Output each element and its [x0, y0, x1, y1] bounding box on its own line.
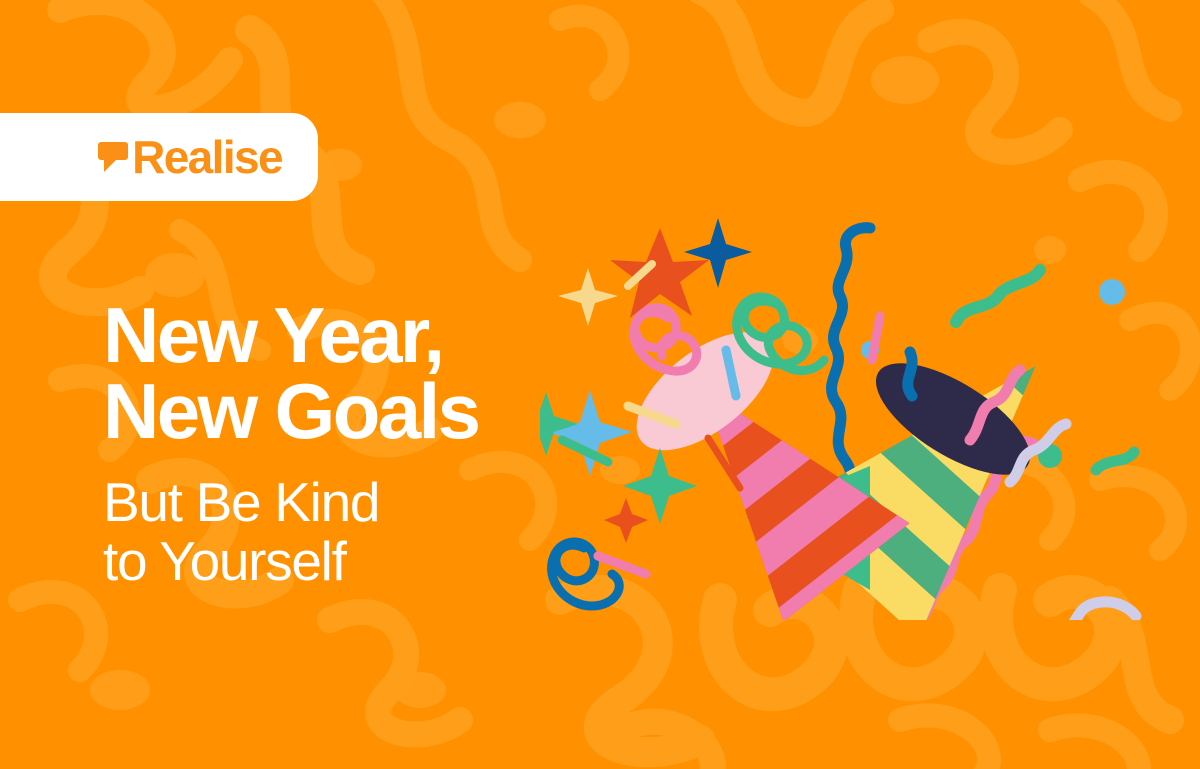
confetti-star-cream — [558, 268, 618, 326]
streamer-green-wave — [956, 270, 1040, 322]
promo-banner: Realise New Year, New Goals But Be Kind … — [0, 0, 1200, 769]
streamer-navy-mouth — [908, 352, 912, 396]
party-poppers-illustration — [540, 200, 1200, 620]
logo-wordmark: Realise — [132, 134, 282, 180]
streamer-green-short — [1096, 452, 1134, 470]
streamer-lavender-wave — [960, 602, 1136, 620]
confetti-star-navy — [684, 218, 752, 288]
speech-bubble-icon — [98, 140, 128, 174]
confetti-dot-blue — [1099, 279, 1125, 305]
confetti-spiral-blue — [552, 542, 620, 606]
confetti-star-orange-small — [604, 498, 648, 543]
confetti-dash-pink-right — [872, 316, 880, 360]
confetti-star-teal — [623, 448, 697, 524]
logo-lockup: Realise — [98, 134, 282, 180]
logo-badge[interactable]: Realise — [0, 113, 318, 201]
confetti-dash-pink-bottom — [598, 556, 646, 574]
confetti-star-light-blue — [548, 390, 632, 476]
